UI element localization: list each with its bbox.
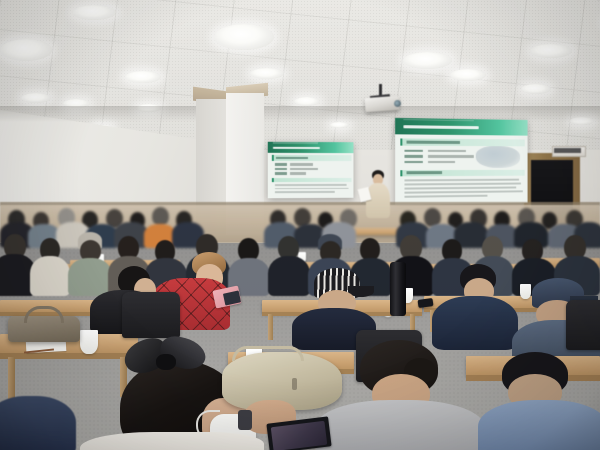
attendee-navy — [432, 264, 518, 350]
slide-header-band — [268, 142, 354, 154]
slide-section-label — [276, 157, 309, 159]
ceiling-downlight — [125, 71, 161, 83]
ceiling-downlight — [214, 24, 274, 50]
slide-header-subtext — [273, 142, 318, 143]
ceiling-downlight — [521, 84, 551, 94]
chair — [122, 292, 180, 338]
desk-leg — [8, 357, 15, 401]
slide-paragraph-line — [405, 186, 516, 189]
ceiling-downlight — [294, 97, 320, 106]
door-sign-text — [554, 148, 581, 153]
slide-section-label-2 — [406, 171, 441, 174]
ceiling-downlight — [250, 68, 284, 79]
main-projection-screen — [395, 118, 527, 205]
ceiling-downlight — [0, 39, 52, 61]
slide-header-subtext — [403, 119, 473, 122]
slide-title-text — [273, 147, 320, 149]
attendee-dark-left — [0, 396, 76, 450]
ceiling-downlight — [330, 122, 349, 128]
ceiling-downlight — [450, 69, 486, 81]
secondary-projection-screen — [268, 142, 354, 199]
slide-title-text — [403, 125, 478, 129]
slide-header-band — [395, 118, 527, 136]
foreground-torso — [80, 432, 264, 450]
slide-table-value — [290, 163, 312, 165]
bag-zip-pull — [292, 378, 297, 390]
slide-paragraph-line — [405, 182, 521, 185]
slide-section-label — [406, 140, 460, 144]
ceiling-downlight — [21, 93, 51, 103]
chair — [566, 300, 600, 350]
slide-table-label — [405, 161, 423, 164]
slide-paragraph-line — [275, 184, 347, 186]
handbag-handle — [24, 306, 64, 323]
attendee-torso — [478, 400, 600, 450]
slide-table-value — [428, 161, 455, 164]
slide-paragraph-line — [405, 195, 488, 198]
ceiling-downlight — [403, 52, 452, 69]
slide-table-value — [290, 172, 305, 174]
attendee-blue-shirt — [478, 352, 600, 450]
slide-inset-image — [476, 146, 520, 168]
attendee-torso — [316, 400, 484, 450]
desk-leg — [268, 314, 273, 340]
slide-paragraph-line — [275, 191, 335, 193]
slide-table-value — [290, 168, 317, 170]
slide-paragraph-line — [405, 178, 519, 181]
slide-body — [268, 153, 354, 198]
slide-table-label — [405, 155, 423, 158]
slide-paragraph-line — [405, 190, 523, 194]
slide-table-label — [275, 163, 287, 165]
slide-section-bar-2 — [272, 178, 351, 182]
attendee-gray-shirt — [316, 340, 484, 450]
slide-table-label — [275, 168, 287, 170]
lecture-hall-photo — [0, 0, 600, 450]
attendee-torso — [0, 396, 76, 450]
black-bow-knot — [156, 354, 176, 370]
slide-table-label — [405, 149, 423, 152]
slide-body — [395, 134, 527, 205]
slide-table-value — [428, 155, 473, 158]
slide-table-value — [428, 149, 466, 152]
wrist-watch — [238, 410, 252, 430]
attendee-torso — [30, 256, 70, 296]
ceiling-downlight — [530, 44, 572, 58]
slide-paragraph-line — [275, 188, 349, 190]
bag-strap — [232, 346, 304, 361]
ceiling-downlight — [72, 5, 116, 20]
slide-table-label — [275, 172, 287, 174]
black-thermos — [390, 262, 406, 316]
